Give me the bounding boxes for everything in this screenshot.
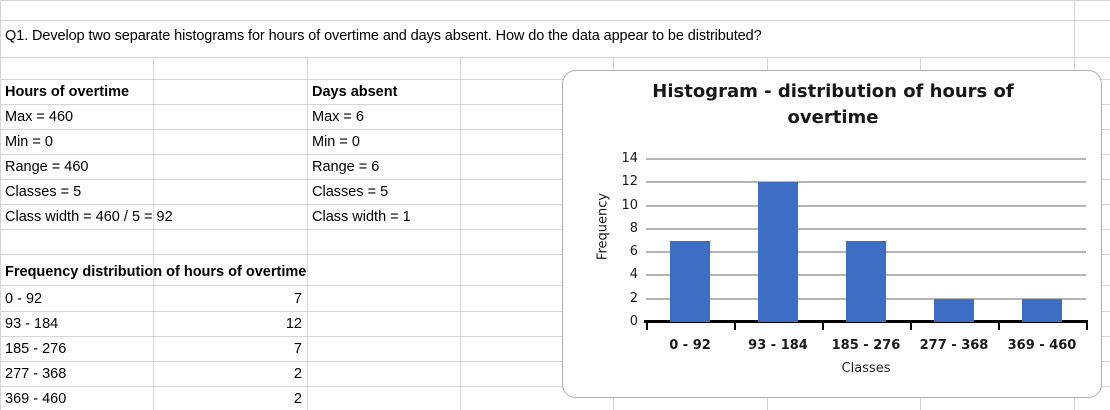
- freq-row-label: 0 - 92: [5, 287, 42, 312]
- x-tick: [1086, 322, 1088, 330]
- spreadsheet-screen: Q1. Develop two separate histograms for …: [0, 0, 1110, 410]
- overtime-heading: Hours of overtime: [5, 80, 129, 105]
- bar[interactable]: [1022, 299, 1062, 322]
- freq-row-value: 2: [158, 362, 302, 387]
- freq-row-value: 7: [158, 337, 302, 362]
- freq-row-value: 7: [158, 287, 302, 312]
- bar[interactable]: [670, 241, 710, 323]
- freq-row-label: 277 - 368: [5, 362, 66, 387]
- x-tick-label: 185 - 276: [822, 338, 910, 353]
- absent-class-width: Class width = 1: [312, 205, 411, 230]
- grid-vline: [0, 0, 1, 410]
- grid-hline: [0, 20, 1110, 21]
- grid-hline: [0, 0, 1110, 1]
- bar[interactable]: [846, 241, 886, 323]
- freq-row-label: 369 - 460: [5, 387, 66, 410]
- y-tick-label: 6: [604, 245, 638, 258]
- freq-row-value: 2: [158, 387, 302, 410]
- x-tick: [910, 322, 912, 330]
- freq-row-value: 12: [158, 312, 302, 337]
- x-axis-title: Classes: [646, 361, 1086, 376]
- x-tick: [822, 322, 824, 330]
- bar[interactable]: [934, 299, 974, 322]
- question-text: Q1. Develop two separate histograms for …: [5, 28, 762, 44]
- y-tick-label: 0: [604, 315, 638, 328]
- absent-heading: Days absent: [312, 80, 397, 105]
- gridline: [646, 205, 1086, 207]
- plot-area: [646, 159, 1086, 322]
- overtime-min: Min = 0: [5, 130, 53, 155]
- absent-min: Min = 0: [312, 130, 360, 155]
- overtime-range: Range = 460: [5, 155, 88, 180]
- y-tick-label: 12: [604, 175, 638, 188]
- absent-max: Max = 6: [312, 105, 364, 130]
- y-tick-label: 14: [604, 152, 638, 165]
- bar[interactable]: [758, 182, 798, 322]
- gridline: [646, 158, 1086, 160]
- freq-table-heading: Frequency distribution of hours of overt…: [5, 260, 306, 285]
- x-tick-label: 277 - 368: [910, 338, 998, 353]
- overtime-class-width: Class width = 460 / 5 = 92: [5, 205, 173, 230]
- chart-title: Histogram - distribution of hours of ove…: [583, 79, 1083, 131]
- x-tick: [998, 322, 1000, 330]
- grid-hline: [0, 57, 1110, 58]
- y-tick-label: 8: [604, 222, 638, 235]
- freq-row-label: 93 - 184: [5, 312, 58, 337]
- grid-vline: [460, 57, 461, 410]
- x-tick-label: 369 - 460: [998, 338, 1086, 353]
- overtime-classes: Classes = 5: [5, 180, 81, 205]
- x-tick-label: 93 - 184: [734, 338, 822, 353]
- x-tick: [646, 322, 648, 330]
- grid-vline: [307, 57, 308, 410]
- x-tick: [734, 322, 736, 330]
- gridline: [646, 181, 1086, 183]
- chart-title-line2: overtime: [583, 105, 1083, 131]
- freq-row-label: 185 - 276: [5, 337, 66, 362]
- absent-range: Range = 6: [312, 155, 379, 180]
- histogram-chart[interactable]: Histogram - distribution of hours of ove…: [562, 70, 1102, 398]
- chart-title-line1: Histogram - distribution of hours of: [583, 79, 1083, 105]
- x-tick-label: 0 - 92: [646, 338, 734, 353]
- grid-vline: [153, 57, 154, 410]
- y-tick-label: 2: [604, 292, 638, 305]
- y-tick-label: 10: [604, 199, 638, 212]
- gridline: [646, 228, 1086, 230]
- absent-classes: Classes = 5: [312, 180, 388, 205]
- overtime-max: Max = 460: [5, 105, 73, 130]
- y-tick-label: 4: [604, 268, 638, 281]
